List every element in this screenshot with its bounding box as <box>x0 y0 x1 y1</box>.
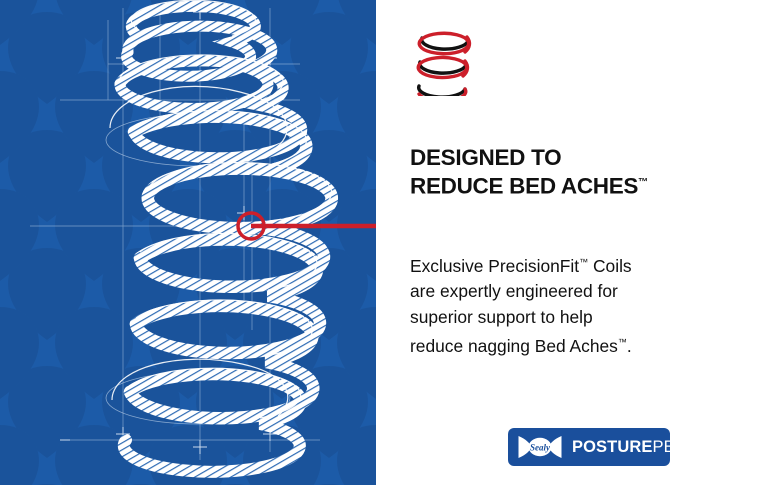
headline-line-1: DESIGNED TO <box>410 145 730 170</box>
trademark-symbol: ™ <box>579 257 588 267</box>
wordmark-posture: POSTURE <box>572 438 652 456</box>
headline-line-2-text: REDUCE BED ACHES <box>410 174 638 199</box>
trademark-symbol: ™ <box>618 337 627 347</box>
page-title: DESIGNED TO REDUCE BED ACHES™ <box>410 145 730 199</box>
wordmark-pedic: PEDIC <box>652 438 703 456</box>
body-line-4: reduce nagging Bed Aches™. <box>410 330 740 359</box>
spring-helix <box>110 0 332 471</box>
coil-icon-black-turns <box>419 38 468 96</box>
body-line-1-post: Coils <box>588 256 632 276</box>
body-line-2: are expertly engineered for <box>410 279 740 305</box>
coil-spring-icon <box>410 24 480 96</box>
sealy-wordmark: Sealy <box>530 442 551 452</box>
advertisement-graphic: DESIGNED TO REDUCE BED ACHES™ Exclusive … <box>0 0 758 485</box>
body-line-1-pre: Exclusive PrecisionFit <box>410 256 579 276</box>
coil-spring-blueprint-drawing <box>0 0 376 485</box>
headline-line-2: REDUCE BED ACHES™ <box>410 170 730 199</box>
trademark-symbol: ™ <box>638 177 648 188</box>
sealy-butterfly-mark: Sealy <box>517 434 563 460</box>
body-line-4-post: . <box>627 336 632 356</box>
posturepedic-wordmark: POSTUREPEDIC <box>572 438 703 457</box>
body-line-1: Exclusive PrecisionFit™ Coils <box>410 250 740 279</box>
body-line-4-pre: reduce nagging Bed Aches <box>410 336 618 356</box>
body-copy: Exclusive PrecisionFit™ Coils are expert… <box>410 250 740 360</box>
coil-icon-red-helix <box>418 33 469 96</box>
sealy-posturepedic-logo: Sealy POSTUREPEDIC <box>508 428 670 466</box>
body-line-3: superior support to help <box>410 305 740 331</box>
content-panel: DESIGNED TO REDUCE BED ACHES™ Exclusive … <box>376 0 758 485</box>
blueprint-panel <box>0 0 376 485</box>
